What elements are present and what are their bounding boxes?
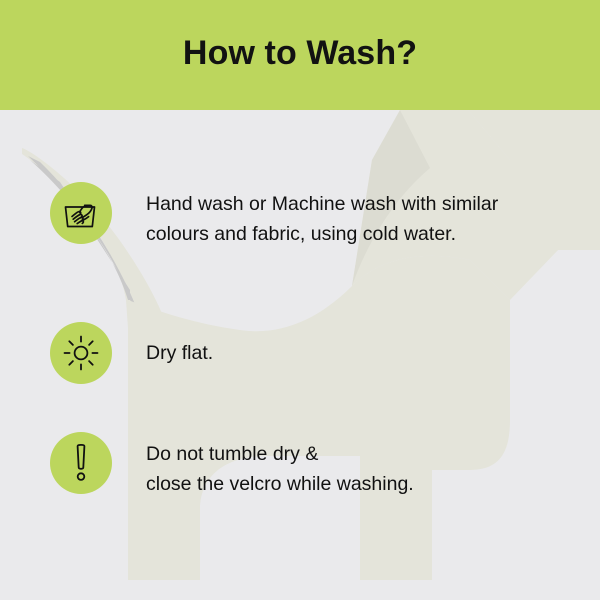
instruction-row: Hand wash or Machine wash with similar c…: [50, 182, 560, 249]
header-bar: How to Wash?: [0, 0, 600, 110]
exclamation-warning-icon: [50, 432, 112, 494]
care-instructions-card: How to Wash? Hand wash or Machine wash w…: [0, 0, 600, 600]
instruction-row: Do not tumble dry & close the velcro whi…: [50, 432, 560, 499]
instruction-text: Hand wash or Machine wash with similar c…: [146, 182, 546, 249]
instruction-list: Hand wash or Machine wash with similar c…: [0, 110, 600, 600]
instruction-text: Dry flat.: [146, 322, 213, 368]
hand-wash-basin-icon: [50, 182, 112, 244]
page-title: How to Wash?: [183, 36, 417, 74]
instruction-row: Dry flat.: [50, 322, 560, 384]
instruction-text: Do not tumble dry & close the velcro whi…: [146, 432, 414, 499]
sun-dry-flat-icon: [50, 322, 112, 384]
